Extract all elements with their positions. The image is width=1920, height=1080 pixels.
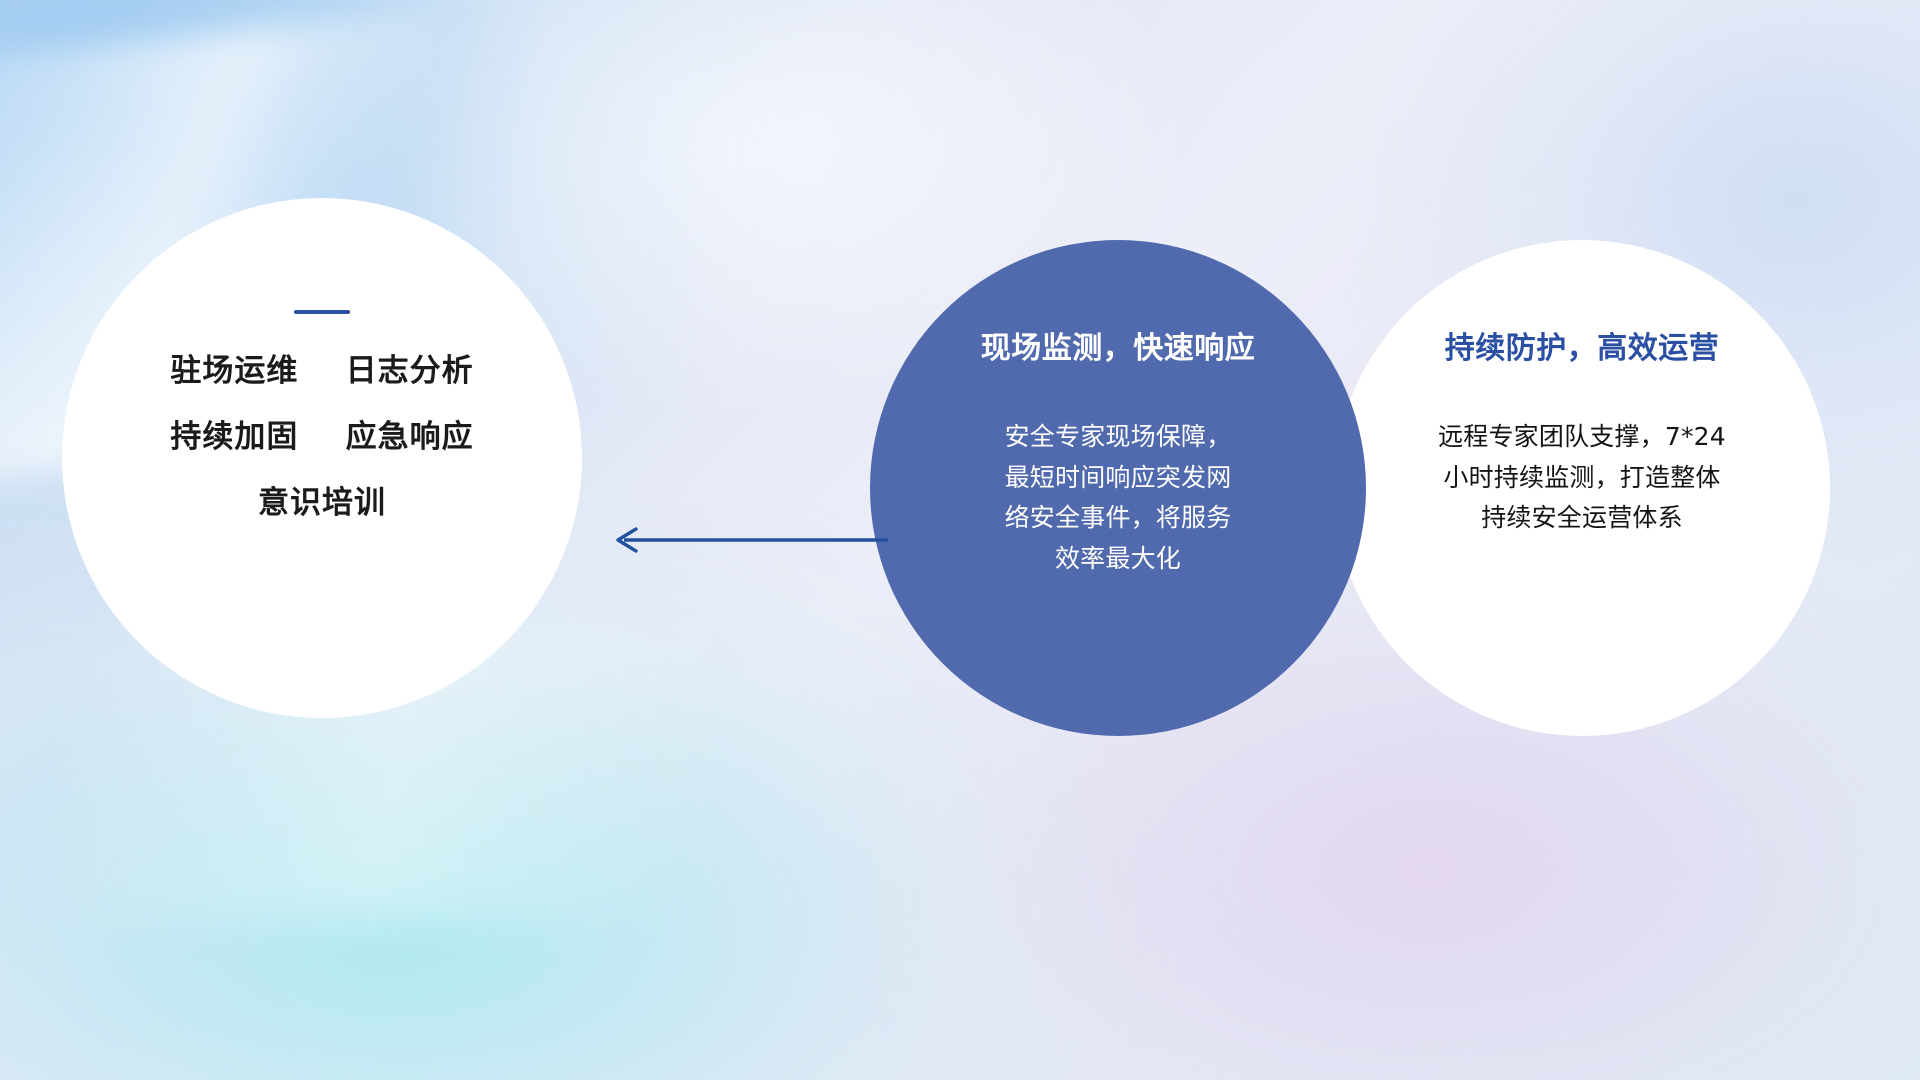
middle-body-line-3: 络安全事件，将服务 bbox=[968, 498, 1268, 539]
keyword-line-3: 意识培训 bbox=[258, 488, 386, 519]
middle-circle-title: 现场监测，快速响应 bbox=[981, 332, 1256, 365]
left-arrow-icon bbox=[600, 522, 890, 558]
middle-circle-body: 安全专家现场保障， 最短时间响应突发网 络安全事件，将服务 效率最大化 bbox=[968, 417, 1268, 579]
divider-dash-icon bbox=[294, 310, 350, 314]
keyword-line-1: 驻场运维 日志分析 bbox=[170, 356, 473, 387]
middle-body-line-2: 最短时间响应突发网 bbox=[968, 458, 1268, 499]
middle-body-line-4: 效率最大化 bbox=[968, 539, 1268, 580]
right-circle-title: 持续防护，高效运营 bbox=[1445, 332, 1720, 365]
middle-body-line-1: 安全专家现场保障， bbox=[968, 417, 1268, 458]
slide-canvas: 驻场运维 日志分析 持续加固 应急响应 意识培训 持续防护，高效运营 远程专家团… bbox=[0, 0, 1920, 1080]
right-info-circle[interactable]: 持续防护，高效运营 远程专家团队支撑，7*24 小时持续监测，打造整体 持续安全… bbox=[1334, 240, 1830, 736]
right-circle-body: 远程专家团队支撑，7*24 小时持续监测，打造整体 持续安全运营体系 bbox=[1380, 417, 1784, 539]
middle-info-circle[interactable]: 现场监测，快速响应 安全专家现场保障， 最短时间响应突发网 络安全事件，将服务 … bbox=[870, 240, 1366, 736]
keyword-line-2: 持续加固 应急响应 bbox=[170, 422, 473, 453]
right-body-line-3: 持续安全运营体系 bbox=[1380, 498, 1784, 539]
right-body-line-2: 小时持续监测，打造整体 bbox=[1380, 458, 1784, 499]
left-keyword-circle[interactable]: 驻场运维 日志分析 持续加固 应急响应 意识培训 bbox=[62, 198, 582, 718]
right-body-line-1: 远程专家团队支撑，7*24 bbox=[1380, 417, 1784, 458]
